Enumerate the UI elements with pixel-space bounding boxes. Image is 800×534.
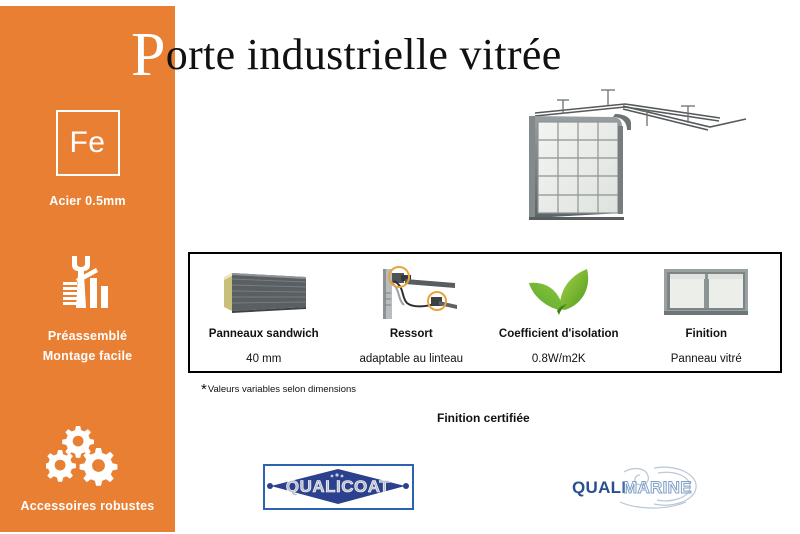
feature-finish: Finition Panneau vitré — [633, 254, 781, 371]
feature-insulation: Coefficient d'isolation 0.8W/m2K — [485, 254, 633, 371]
page-title-initial: P — [131, 21, 166, 89]
sidebar-label-steel: Acier 0.5mm — [0, 191, 175, 211]
feature-sandwich-panel: Panneaux sandwich 40 mm — [190, 254, 338, 371]
wrench-assembly-icon — [0, 252, 175, 314]
industrial-door-photo — [505, 78, 750, 228]
glazed-panel-icon — [656, 261, 756, 323]
feature-value: Panneau vitré — [671, 353, 742, 365]
footnote-text: Valeurs variables selon dimensions — [208, 384, 356, 395]
qualimarine-wordmark-bold: QUALI — [572, 478, 626, 497]
sandwich-panel-icon — [214, 261, 314, 323]
page-title-rest: orte industrielle vitrée — [166, 30, 562, 79]
feature-value: 40 mm — [246, 353, 281, 365]
feature-title: Coefficient d'isolation — [499, 328, 619, 340]
feature-title: Panneaux sandwich — [209, 328, 319, 340]
qualicoat-wordmark: QUALICOAT — [286, 477, 390, 496]
feature-title: Finition — [685, 328, 727, 340]
certification-label: Finition certifiée — [437, 411, 530, 425]
qualicoat-logo: QUALICOAT — [263, 464, 414, 510]
footnote: *Valeurs variables selon dimensions — [201, 381, 356, 398]
footnote-marker: * — [201, 381, 207, 398]
feature-box: Panneaux sandwich 40 mm — [188, 252, 782, 373]
feature-spring: Ressort adaptable au linteau — [338, 254, 486, 371]
green-leaf-icon — [513, 261, 605, 323]
spring-mechanism-icon — [361, 261, 461, 323]
qualimarine-logo: QUALI MARINE — [558, 462, 708, 512]
fe-element-icon: Fe — [56, 110, 120, 176]
sidebar-item-accessories: Accessoires robustes — [0, 424, 175, 516]
page-title: Porte industrielle vitrée — [131, 24, 562, 86]
sidebar-label-preassembled-1: Préassemblé — [0, 326, 175, 346]
gears-icon — [0, 424, 175, 486]
feature-value: adaptable au linteau — [359, 353, 463, 365]
feature-value: 0.8W/m2K — [532, 353, 586, 365]
sidebar-label-accessories: Accessoires robustes — [0, 496, 175, 516]
sidebar-item-preassembled: Préassemblé Montage facile — [0, 252, 175, 366]
qualimarine-wordmark-light: MARINE — [623, 478, 692, 497]
sidebar-item-steel: Fe Acier 0.5mm — [0, 110, 175, 211]
feature-title: Ressort — [390, 328, 433, 340]
sidebar-label-preassembled-2: Montage facile — [0, 346, 175, 366]
fe-symbol-label: Fe — [69, 128, 105, 158]
product-sheet-page: Fe Acier 0.5mm — [0, 0, 800, 534]
